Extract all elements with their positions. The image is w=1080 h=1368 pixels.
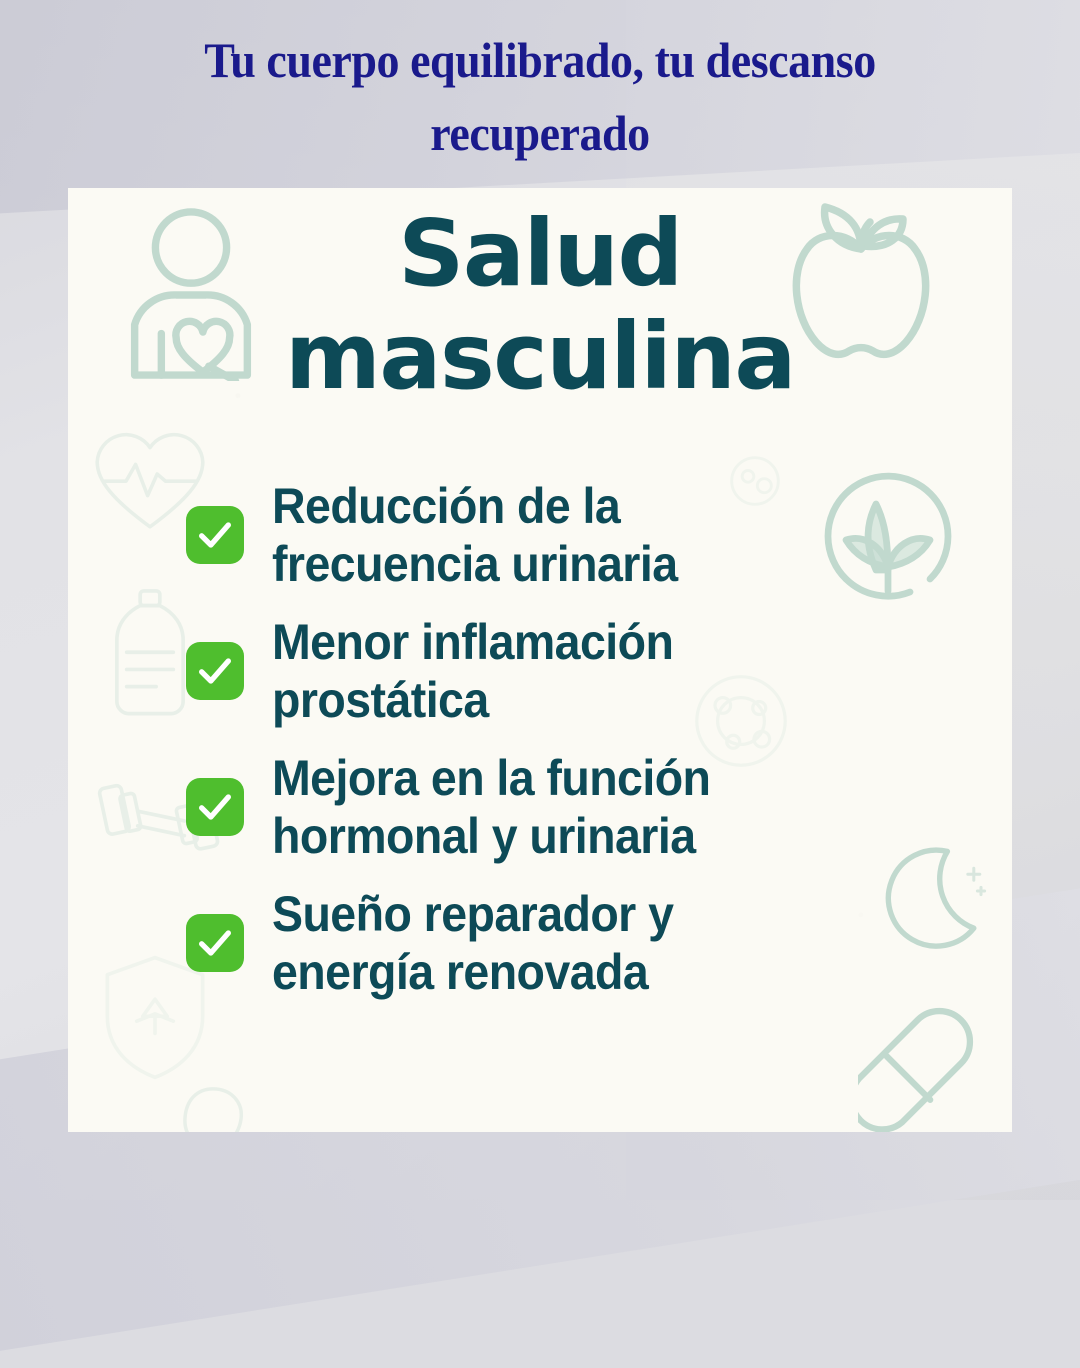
capsule-pill-icon (858, 1006, 1008, 1132)
benefit-label: Mejora en la función hormonal y urinaria (272, 749, 710, 866)
check-icon (195, 515, 235, 555)
benefit-label: Menor inflamación prostática (272, 613, 673, 730)
list-item: Sueño reparador y energía renovada (186, 884, 996, 1002)
checkbox-checked[interactable] (186, 506, 244, 564)
benefit-label: Reducción de la frecuencia urinaria (272, 477, 677, 594)
list-item: Menor inflamación prostática (186, 612, 996, 730)
content-card: Salud masculina Reducción de la frecuenc… (68, 188, 1012, 1132)
checkbox-checked[interactable] (186, 642, 244, 700)
page-headline: Tu cuerpo equilibrado, tu descanso recup… (43, 24, 1037, 170)
checkbox-checked[interactable] (186, 914, 244, 972)
benefits-list: Reducción de la frecuencia urinaria Meno… (186, 476, 996, 1020)
benefit-label: Sueño reparador y energía renovada (272, 885, 673, 1002)
checkbox-checked[interactable] (186, 778, 244, 836)
list-item: Reducción de la frecuencia urinaria (186, 476, 996, 594)
blob-icon (178, 1083, 248, 1132)
card-title: Salud masculina (68, 202, 1012, 408)
check-icon (195, 787, 235, 827)
list-item: Mejora en la función hormonal y urinaria (186, 748, 996, 866)
check-icon (195, 923, 235, 963)
check-icon (195, 651, 235, 691)
water-bottle-icon (106, 586, 194, 721)
